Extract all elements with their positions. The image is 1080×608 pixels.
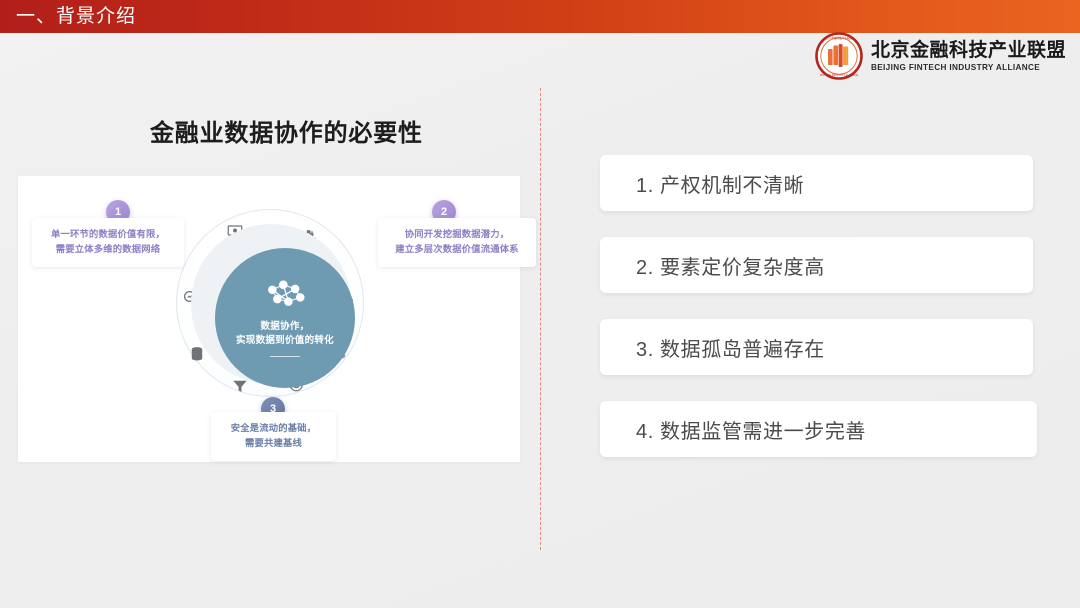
svg-text:北京金融科技产业联盟: 北京金融科技产业联盟 [826,36,852,40]
diagram-core: 数据协作， 实现数据到价值的转化 [215,248,355,388]
core-line-1: 数据协作， [260,320,309,335]
callout-3-line-1: 安全是流动的基础， [221,421,326,436]
callout-1-line-2: 需要立体多维的数据网络 [42,242,174,257]
callout-box-1: 单一环节的数据价值有限， 需要立体多维的数据网络 [32,218,184,267]
network-nodes-icon [263,279,307,314]
circular-seal-icon: 北京金融科技产业联盟 FINTECH INDUSTRY ALLIANCE [815,32,863,80]
outer-ring: 数据协作， 实现数据到价值的转化 [176,209,364,397]
brand-logo: 北京金融科技产业联盟 FINTECH INDUSTRY ALLIANCE 北京金… [815,32,1066,80]
vertical-divider [540,88,541,550]
section-title: 一、背景介绍 [16,7,136,26]
logo-text: 北京金融科技产业联盟 BEIJING FINTECH INDUSTRY ALLI… [871,40,1066,73]
issue-card-3[interactable]: 3. 数据孤岛普遍存在 [600,319,1033,375]
callout-3-line-2: 需要共建基线 [221,436,326,451]
callout-2-line-2: 建立多层次数据价值流通体系 [388,242,526,257]
callout-box-3: 安全是流动的基础， 需要共建基线 [211,412,336,461]
issue-card-2[interactable]: 2. 要素定价复杂度高 [600,237,1033,293]
logo-name-en: BEIJING FINTECH INDUSTRY ALLIANCE [871,63,1066,72]
mid-ring: 数据协作， 实现数据到价值的转化 [191,224,351,384]
core-rule [270,356,300,358]
callout-2-line-1: 协同开发挖掘数据潜力， [388,227,526,242]
logo-name-cn: 北京金融科技产业联盟 [871,40,1066,62]
issue-list: 1. 产权机制不清晰 2. 要素定价复杂度高 3. 数据孤岛普遍存在 4. 数据… [600,155,1037,457]
issue-card-1[interactable]: 1. 产权机制不清晰 [600,155,1033,211]
issue-card-4[interactable]: 4. 数据监管需进一步完善 [600,401,1037,457]
svg-text:FINTECH INDUSTRY ALLIANCE: FINTECH INDUSTRY ALLIANCE [820,73,859,77]
diagram-panel: 数据协作， 实现数据到价值的转化 1 单一环节的数据价值有限， 需要立体多维的数… [18,176,520,462]
core-line-2: 实现数据到价值的转化 [236,334,334,349]
header-bar: 一、背景介绍 [0,0,1080,33]
callout-box-2: 协同开发挖掘数据潜力， 建立多层次数据价值流通体系 [378,218,536,267]
page-title: 金融业数据协作的必要性 [150,113,423,148]
callout-1-line-1: 单一环节的数据价值有限， [42,227,174,242]
